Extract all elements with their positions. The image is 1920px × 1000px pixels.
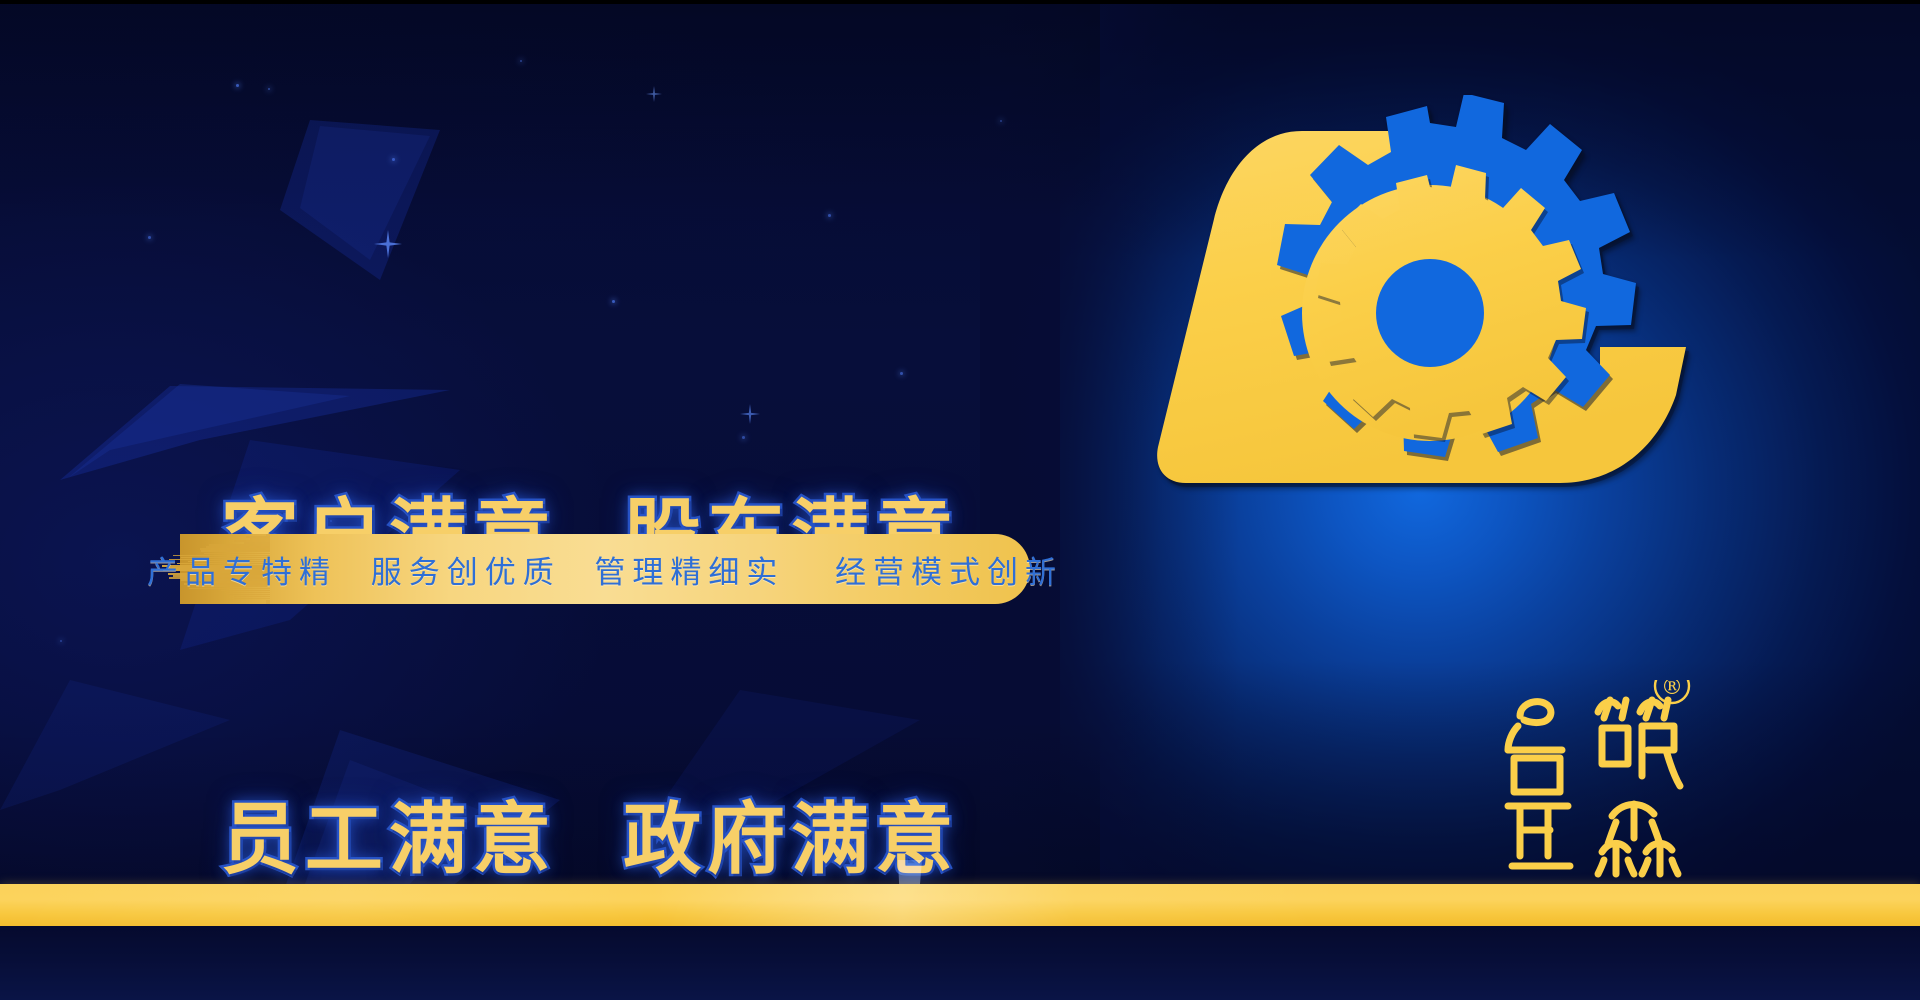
wordmark-char-sen xyxy=(1598,804,1678,874)
registered-symbol-glyph: ® xyxy=(1661,680,1683,700)
star-dot xyxy=(148,236,151,239)
slogan-banner-text: 产品专特精 服务创优质 管理精细实 经营模式创新 xyxy=(180,534,1030,604)
wordmark-char-tai xyxy=(1508,702,1562,792)
star-dot xyxy=(60,640,62,642)
slogan-banner: 产品专特精 服务创优质 管理精细实 经营模式创新 xyxy=(150,534,1030,604)
star-dot xyxy=(236,84,239,87)
poster-canvas: 客户满意 股东满意 员工满意 政府满意 产品专特精 服务创优质 管理精细实 经营… xyxy=(0,0,1920,1000)
registered-trademark-icon: ® xyxy=(1655,680,1689,703)
star-dot xyxy=(520,60,522,62)
star-dot xyxy=(828,214,831,217)
star-sparkle xyxy=(646,86,662,102)
star-dot xyxy=(392,158,395,161)
brand-wordmark: ® xyxy=(1490,680,1700,880)
footer-dark-strip xyxy=(0,926,1920,1000)
headline-line-2: 员工满意 政府满意 xyxy=(180,789,1000,890)
star-dot xyxy=(268,88,270,90)
wordmark-char-zheng xyxy=(1508,806,1570,866)
footer-gold-bar xyxy=(0,884,1920,926)
wordmark-char-zhu xyxy=(1598,700,1680,786)
company-logo-icon xyxy=(1130,95,1690,495)
star-dot xyxy=(1000,120,1002,122)
top-edge-line xyxy=(0,0,1920,4)
star-sparkle xyxy=(374,230,402,258)
